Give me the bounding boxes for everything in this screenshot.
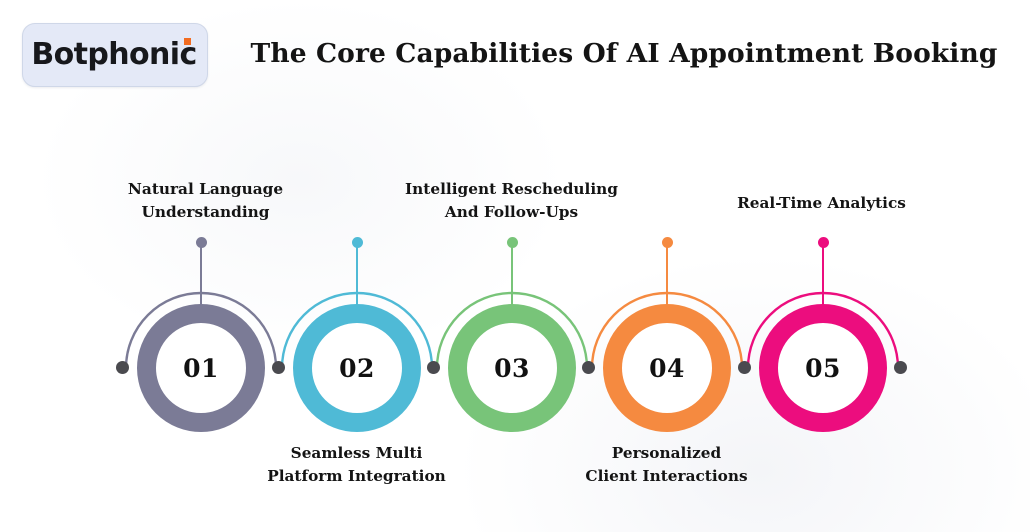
- step-stem-dot-05-icon: [818, 237, 829, 248]
- step-label-03-line2: And Follow-Ups: [390, 201, 633, 224]
- step-label-01-line2: Understanding: [84, 201, 327, 224]
- step-label-04: Personalized Client Interactions: [545, 442, 788, 489]
- connector-dot-end: [894, 361, 907, 374]
- step-stem-dot-03-icon: [507, 237, 518, 248]
- step-label-01: Natural Language Understanding: [84, 178, 327, 225]
- step-ring-04[interactable]: 04: [603, 304, 731, 432]
- step-number-04: 04: [649, 356, 685, 381]
- step-label-03-line1: Intelligent Rescheduling: [390, 178, 633, 201]
- step-node-02[interactable]: 02: [293, 304, 421, 432]
- step-stem-02: [356, 242, 358, 308]
- page-header: Botphonic The Core Capabilities Of AI Ap…: [0, 0, 1030, 110]
- connector-dot-02-03: [427, 361, 440, 374]
- logo-accent-dot-icon: [184, 38, 191, 45]
- connector-dot-04-05: [738, 361, 751, 374]
- brand-logo[interactable]: Botphonic: [22, 23, 208, 87]
- step-label-02: Seamless Multi Platform Integration: [235, 442, 478, 489]
- connector-dot-01-02: [272, 361, 285, 374]
- step-label-02-line1: Seamless Multi: [235, 442, 478, 465]
- step-stem-dot-02-icon: [352, 237, 363, 248]
- step-ring-01[interactable]: 01: [137, 304, 265, 432]
- step-stem-dot-01-icon: [196, 237, 207, 248]
- step-label-05: Real-Time Analytics: [700, 192, 943, 215]
- page-title: The Core Capabilities Of AI Appointment …: [238, 38, 1010, 69]
- step-label-05-line1: Real-Time Analytics: [700, 192, 943, 215]
- step-stem-03: [511, 242, 513, 308]
- step-ring-03[interactable]: 03: [448, 304, 576, 432]
- step-label-04-line2: Client Interactions: [545, 465, 788, 488]
- step-label-02-line2: Platform Integration: [235, 465, 478, 488]
- brand-logo-label: Botphonic: [31, 37, 196, 72]
- step-node-03[interactable]: 03: [448, 304, 576, 432]
- step-number-05: 05: [805, 356, 841, 381]
- step-node-04[interactable]: 04: [603, 304, 731, 432]
- step-label-01-line1: Natural Language: [84, 178, 327, 201]
- step-stem-01: [200, 242, 202, 308]
- step-label-03: Intelligent Rescheduling And Follow-Ups: [390, 178, 633, 225]
- step-number-03: 03: [494, 356, 530, 381]
- step-stem-dot-04-icon: [662, 237, 673, 248]
- step-ring-02[interactable]: 02: [293, 304, 421, 432]
- step-ring-05[interactable]: 05: [759, 304, 887, 432]
- step-stem-04: [666, 242, 668, 308]
- step-stem-05: [822, 242, 824, 308]
- step-number-01: 01: [183, 356, 219, 381]
- connector-dot-03-04: [582, 361, 595, 374]
- step-node-01[interactable]: 01: [137, 304, 265, 432]
- step-label-04-line1: Personalized: [545, 442, 788, 465]
- connector-dot-start: [116, 361, 129, 374]
- brand-logo-text: Botphonic: [31, 40, 198, 70]
- step-node-05[interactable]: 05: [759, 304, 887, 432]
- step-number-02: 02: [339, 356, 375, 381]
